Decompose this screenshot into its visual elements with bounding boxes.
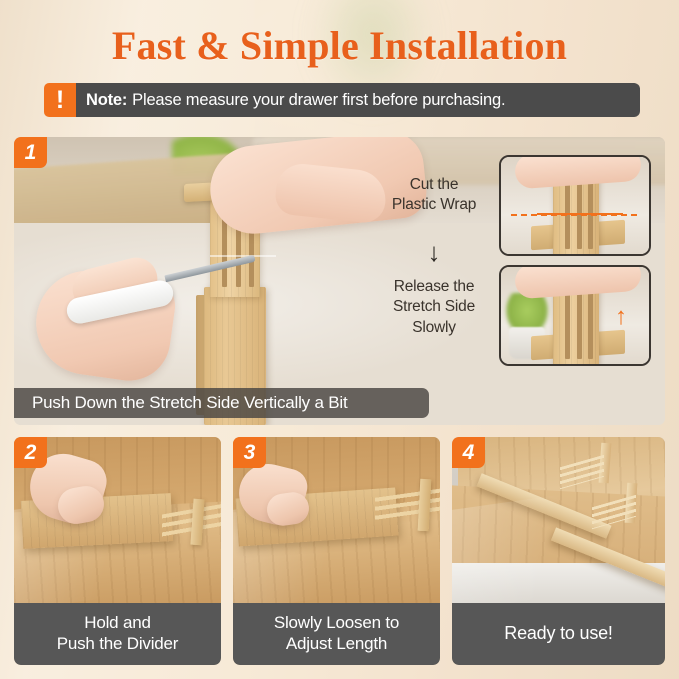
- steps-row: 2 Hold and Push the Divider 3 Slowly Loo…: [14, 437, 665, 665]
- release-line-1: Release the: [366, 277, 502, 297]
- release-line-2: Stretch Side: [366, 297, 502, 317]
- step-1-caption: Push Down the Stretch Side Vertically a …: [14, 388, 429, 418]
- exclamation-icon: !: [44, 83, 76, 117]
- step-2-caption-line-1: Hold and: [84, 613, 150, 634]
- step-4-badge: 4: [452, 437, 485, 468]
- note-banner: ! Note: Please measure your drawer first…: [44, 83, 640, 117]
- note-text: Note: Please measure your drawer first b…: [70, 83, 640, 117]
- release-stretch-side-inset: ↑: [499, 265, 651, 366]
- bamboo-slot: [577, 289, 582, 359]
- page-title: Fast & Simple Installation: [0, 22, 679, 69]
- release-stretch-side-text: Release the Stretch Side Slowly: [366, 277, 502, 338]
- bamboo-slot: [565, 289, 570, 359]
- up-arrow-icon: ↑: [615, 305, 627, 329]
- cut-line-2: Plastic Wrap: [366, 195, 502, 215]
- step-4-caption: Ready to use!: [452, 603, 665, 665]
- step-2-caption: Hold and Push the Divider: [14, 603, 221, 665]
- release-line-3: Slowly: [366, 318, 502, 338]
- step-3-panel: 3 Slowly Loosen to Adjust Length: [233, 437, 440, 665]
- step-2-badge: 2: [14, 437, 47, 468]
- step-2-caption-line-2: Push the Divider: [57, 634, 179, 655]
- step-3-caption-line-1: Slowly Loosen to: [274, 613, 399, 634]
- note-label: Note:: [86, 91, 127, 110]
- cut-line-solid-icon: [537, 213, 623, 215]
- bamboo-slot: [588, 289, 593, 359]
- step-3-badge: 3: [233, 437, 266, 468]
- step-2-panel: 2 Hold and Push the Divider: [14, 437, 221, 665]
- step-1-badge: 1: [14, 137, 47, 168]
- down-arrow-icon: ↓: [366, 239, 502, 265]
- cut-line-1: Cut the: [366, 175, 502, 195]
- step-3-caption: Slowly Loosen to Adjust Length: [233, 603, 440, 665]
- step-3-caption-line-2: Adjust Length: [286, 634, 387, 655]
- cut-plastic-wrap-inset: [499, 155, 651, 256]
- step-4-panel: 4 Ready to use!: [452, 437, 665, 665]
- light-reflection: [452, 491, 607, 603]
- header: Fast & Simple Installation ! Note: Pleas…: [0, 0, 679, 131]
- note-body: Please measure your drawer first before …: [132, 91, 505, 110]
- step-4-caption-line-1: Ready to use!: [504, 623, 612, 645]
- step-1-panel: Cut the Plastic Wrap ↓ Release the Stret…: [14, 137, 665, 425]
- cut-plastic-wrap-text: Cut the Plastic Wrap: [366, 175, 502, 216]
